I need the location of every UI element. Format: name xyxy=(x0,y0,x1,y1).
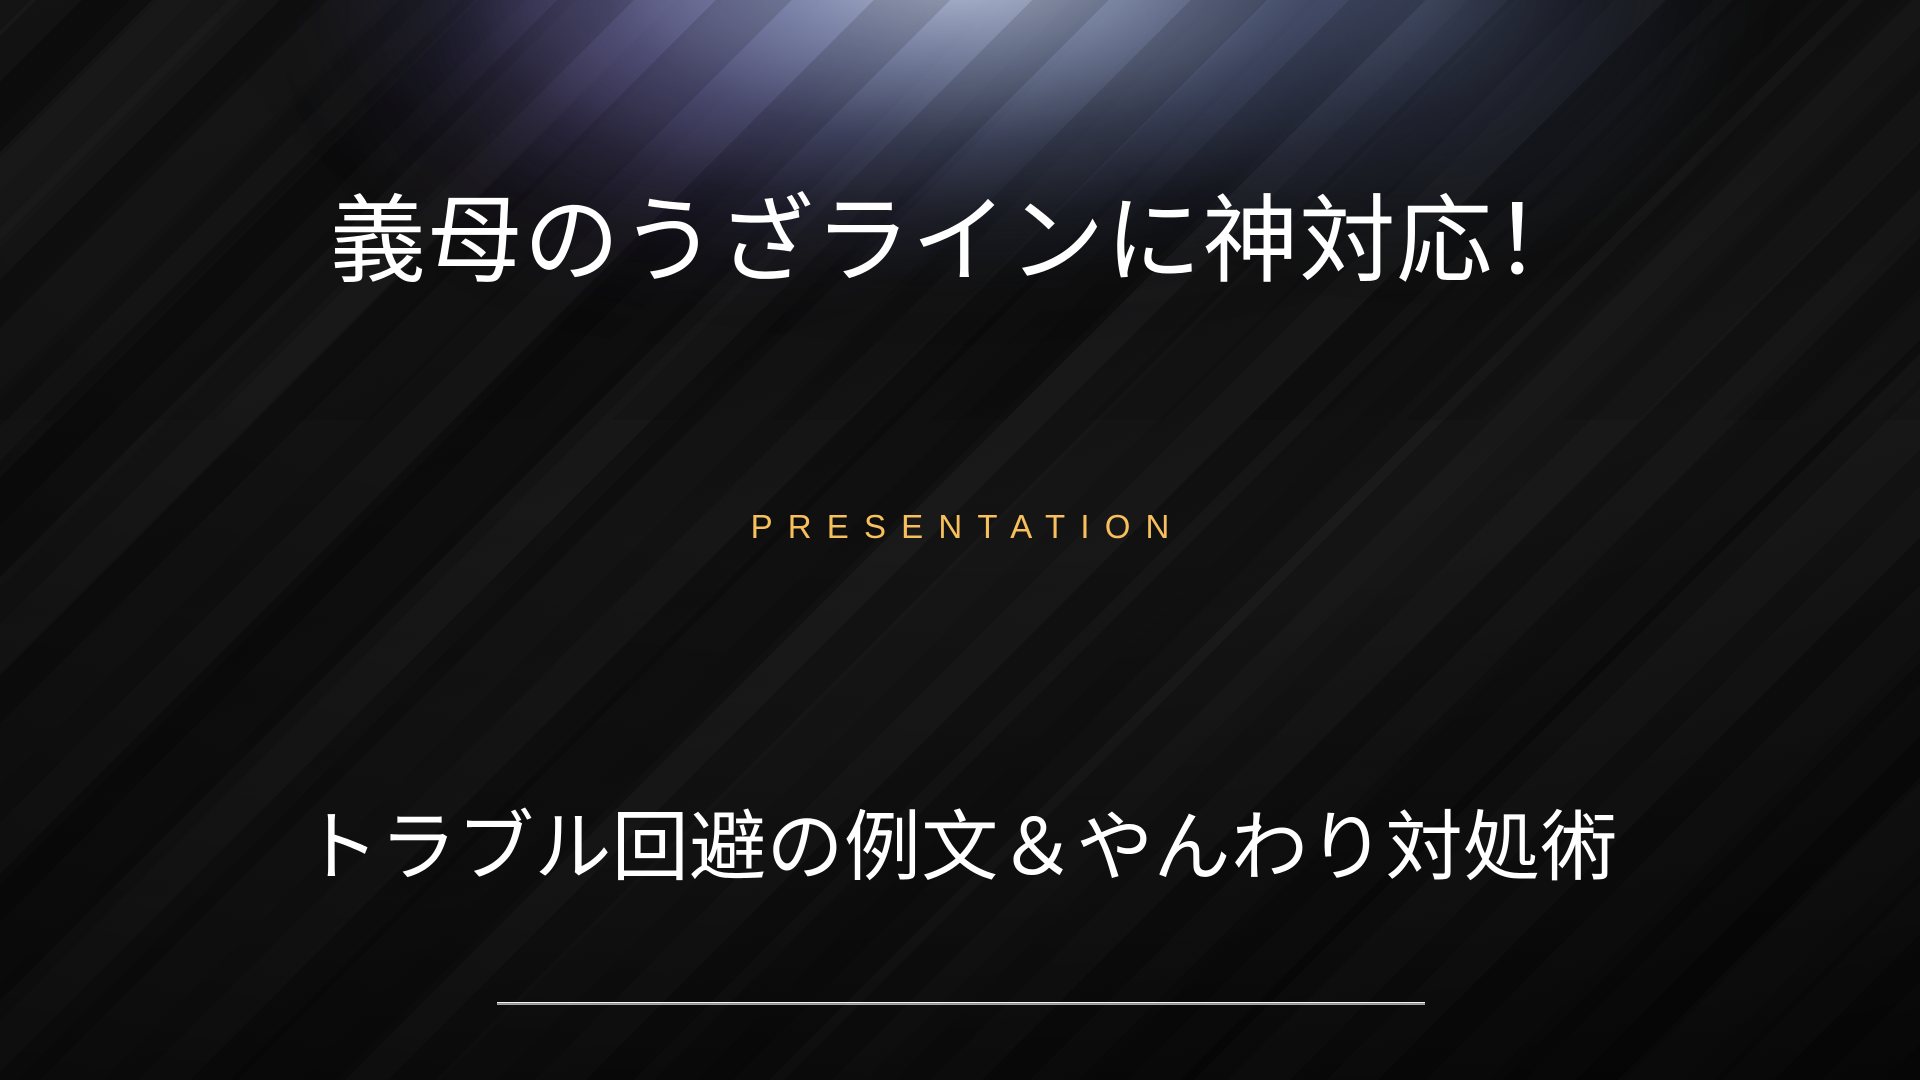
slide-content: 義母のうざラインに神対応！ PRESENTATION トラブル回避の例文＆やんわ… xyxy=(0,0,1920,1080)
divider-rule xyxy=(497,1002,1425,1005)
slide-title: 義母のうざラインに神対応！ xyxy=(0,188,1920,296)
slide-subtitle: トラブル回避の例文＆やんわり対処術 xyxy=(0,804,1920,893)
slide-eyebrow-label: PRESENTATION xyxy=(0,508,1920,546)
presentation-title-slide: 義母のうざラインに神対応！ PRESENTATION トラブル回避の例文＆やんわ… xyxy=(0,0,1920,1080)
